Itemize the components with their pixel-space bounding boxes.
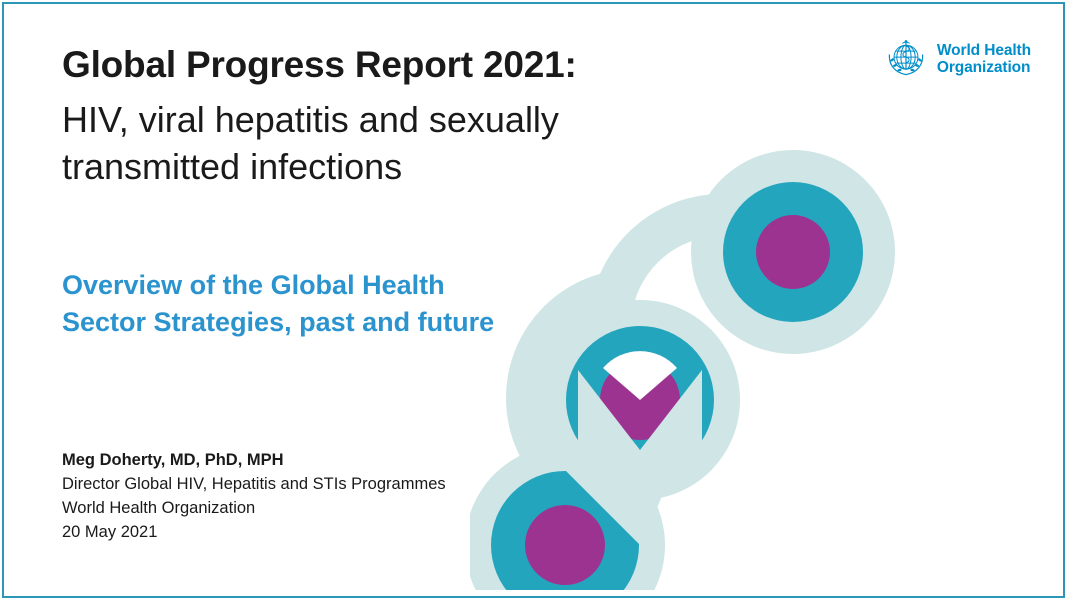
who-logo: World Health Organization	[883, 36, 1031, 82]
who-emblem-icon	[883, 36, 929, 82]
ghss-circles-graphic	[470, 120, 940, 590]
who-wordmark: World Health Organization	[937, 42, 1031, 77]
presenter-role: Director Global HIV, Hepatitis and STIs …	[62, 472, 446, 496]
who-wordmark-line-2: Organization	[937, 59, 1031, 76]
overview-line-2: Sector Strategies, past and future	[62, 304, 622, 341]
presenter-name: Meg Doherty, MD, PhD, MPH	[62, 448, 446, 472]
motif-target-closed	[691, 150, 895, 354]
page-title: Global Progress Report 2021:	[62, 0, 682, 85]
overview-line-1: Overview of the Global Health	[62, 267, 622, 304]
who-wordmark-line-1: World Health	[937, 42, 1031, 59]
presentation-date: 20 May 2021	[62, 520, 446, 544]
presenter-byline: Meg Doherty, MD, PhD, MPH Director Globa…	[62, 448, 446, 544]
overview-heading: Overview of the Global Health Sector Str…	[62, 267, 622, 342]
title-block: Global Progress Report 2021: HIV, viral …	[62, 0, 682, 190]
page-subtitle: HIV, viral hepatitis and sexually transm…	[62, 85, 642, 189]
slide-canvas: Global Progress Report 2021: HIV, viral …	[0, 0, 1069, 602]
presenter-organization: World Health Organization	[62, 496, 446, 520]
